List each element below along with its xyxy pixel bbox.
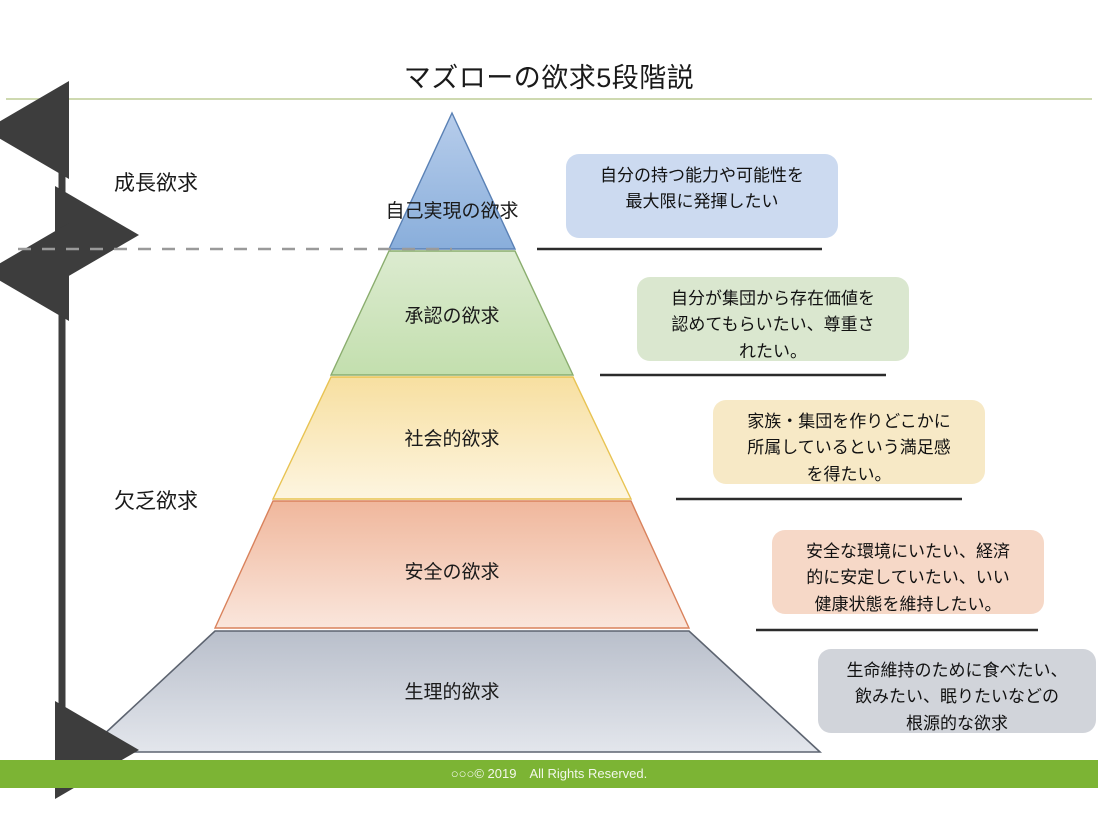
- callout-esteem: 自分が集団から存在価値を認めてもらいたい、尊重されたい。: [637, 277, 909, 361]
- slide-canvas: マズローの欲求5段階説: [0, 0, 1098, 829]
- tier-shape-self-actualization: [389, 113, 515, 249]
- callout-social: 家族・集団を作りどこかに所属しているという満足感を得たい。: [713, 400, 985, 484]
- tier-label-esteem: 承認の欲求: [404, 301, 499, 328]
- footer-copyright: ○○○© 2019 All Rights Reserved.: [0, 760, 1098, 788]
- tier-label-physiological: 生理的欲求: [404, 677, 499, 704]
- group-label-deficiency-needs: 欠乏欲求: [114, 485, 198, 515]
- group-label-growth-needs: 成長欲求: [114, 167, 198, 197]
- callout-safety: 安全な環境にいたい、経済的に安定していたい、いい健康状態を維持したい。: [772, 530, 1044, 614]
- tier-label-safety: 安全の欲求: [404, 557, 499, 584]
- tier-label-self-actualization: 自己実現の欲求: [385, 196, 518, 223]
- tier-label-social: 社会的欲求: [404, 424, 499, 451]
- callout-physiological: 生命維持のために食べたい、飲みたい、眠りたいなどの根源的な欲求: [818, 649, 1096, 733]
- callout-self-actualization: 自分の持つ能力や可能性を最大限に発揮したい: [566, 154, 838, 238]
